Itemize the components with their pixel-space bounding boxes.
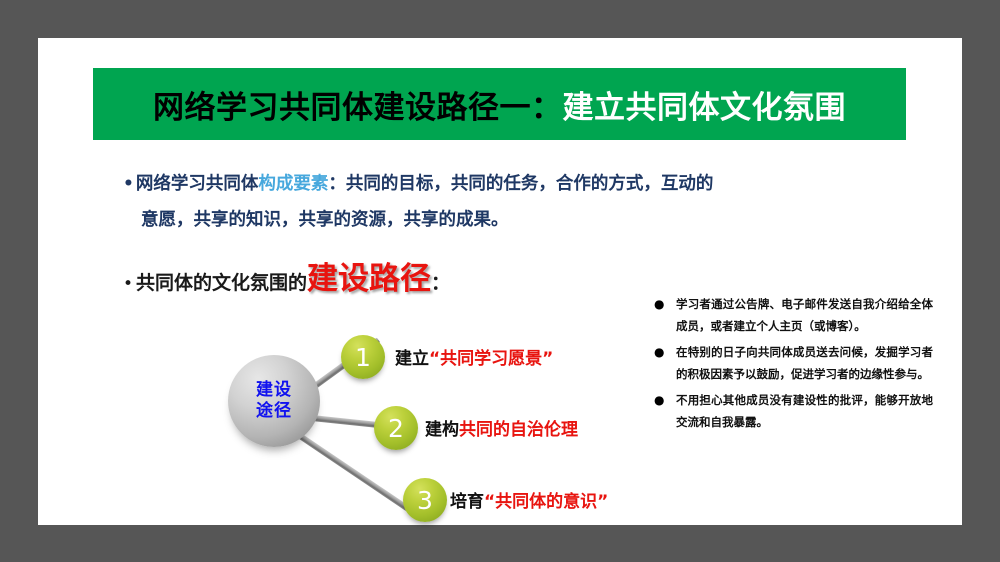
center-node-label-line1: 建设 [256,380,292,401]
node-number-3: 3 [417,488,433,513]
list-item: ● 不用担心其他成员没有建设性的批评，能够开放地交流和自我暴露。 [648,389,933,433]
list-bullet-icon: ● [654,389,664,411]
list-bullet-icon: ● [654,293,664,315]
list-item-text: 不用担心其他成员没有建设性的批评，能够开放地交流和自我暴露。 [676,393,933,429]
list-item-text: 在特别的日子向共同体成员送去问候，发掘学习者的积极因素予以鼓励，促进学习者的边缘… [676,345,933,381]
bullet-one-lead: 网络学习共同体 [136,174,259,194]
title-banner: 网络学习共同体建设路径一：建立共同体文化氛围 [93,68,906,140]
bullet-two-highlight: 建设路径 [307,261,431,297]
node-label-1: 建立“共同学习愿景” [395,344,553,369]
bullet-marker-icon-2: • [123,274,133,294]
node-label-1-plain: 建立 [395,349,429,369]
node-label-2-accent: 共同的自治伦理 [459,420,578,440]
center-node-sphere: 建设 途径 [228,355,320,447]
bullet-item-composition: •网络学习共同体构成要素：共同的目标，共同的任务，合作的方式，互动的 意愿，共享… [123,166,913,238]
node-circle-2[interactable]: 2 [374,406,418,450]
node-label-3-accent: “共同体的意识” [484,492,608,512]
title-light-part: 建立共同体文化氛围 [563,82,847,127]
bullet-item-path: •共同体的文化氛围的建设路径： [123,253,450,298]
list-item: ● 在特别的日子向共同体成员送去问候，发掘学习者的积极因素予以鼓励，促进学习者的… [648,341,933,385]
title-dark-part: 网络学习共同体建设路径一： [153,82,563,127]
bullet-two-trailing: ： [431,272,450,294]
path-diagram: 建设 途径 1 建立“共同学习愿景” 2 建构共同的自治伦理 3 培育“共同体的… [178,293,598,523]
bullet-one-line-2: 意愿，共享的知识，共享的资源，共享的成果。 [123,202,913,238]
list-item: ● 学习者通过公告牌、电子邮件发送自我介绍给全体成员，或者建立个人主页（或博客）… [648,293,933,337]
node-circle-3[interactable]: 3 [403,478,447,522]
slide-canvas: 网络学习共同体建设路径一：建立共同体文化氛围 •网络学习共同体构成要素：共同的目… [38,38,962,525]
node-label-2: 建构共同的自治伦理 [425,415,578,440]
node-label-3: 培育“共同体的意识” [450,487,608,512]
bullet-marker-icon: • [123,166,134,202]
node-label-3-plain: 培育 [450,492,484,512]
center-node-label-line2: 途径 [256,401,292,422]
list-item-text: 学习者通过公告牌、电子邮件发送自我介绍给全体成员，或者建立个人主页（或博客）。 [676,297,933,333]
bullet-one-rest: ：共同的目标，共同的任务，合作的方式，互动的 [328,174,713,194]
node-label-1-accent: “共同学习愿景” [429,349,553,369]
node-number-1: 1 [355,345,371,370]
list-bullet-icon: ● [654,341,664,363]
node-circle-1[interactable]: 1 [341,335,385,379]
bullet-one-line-1: •网络学习共同体构成要素：共同的目标，共同的任务，合作的方式，互动的 [123,166,913,202]
node-label-2-plain: 建构 [425,420,459,440]
bullet-one-accent: 构成要素 [258,174,328,194]
right-notes-column: ● 学习者通过公告牌、电子邮件发送自我介绍给全体成员，或者建立个人主页（或博客）… [648,293,933,437]
node-number-2: 2 [388,416,404,441]
bullet-two-lead: 共同体的文化氛围的 [136,272,307,294]
